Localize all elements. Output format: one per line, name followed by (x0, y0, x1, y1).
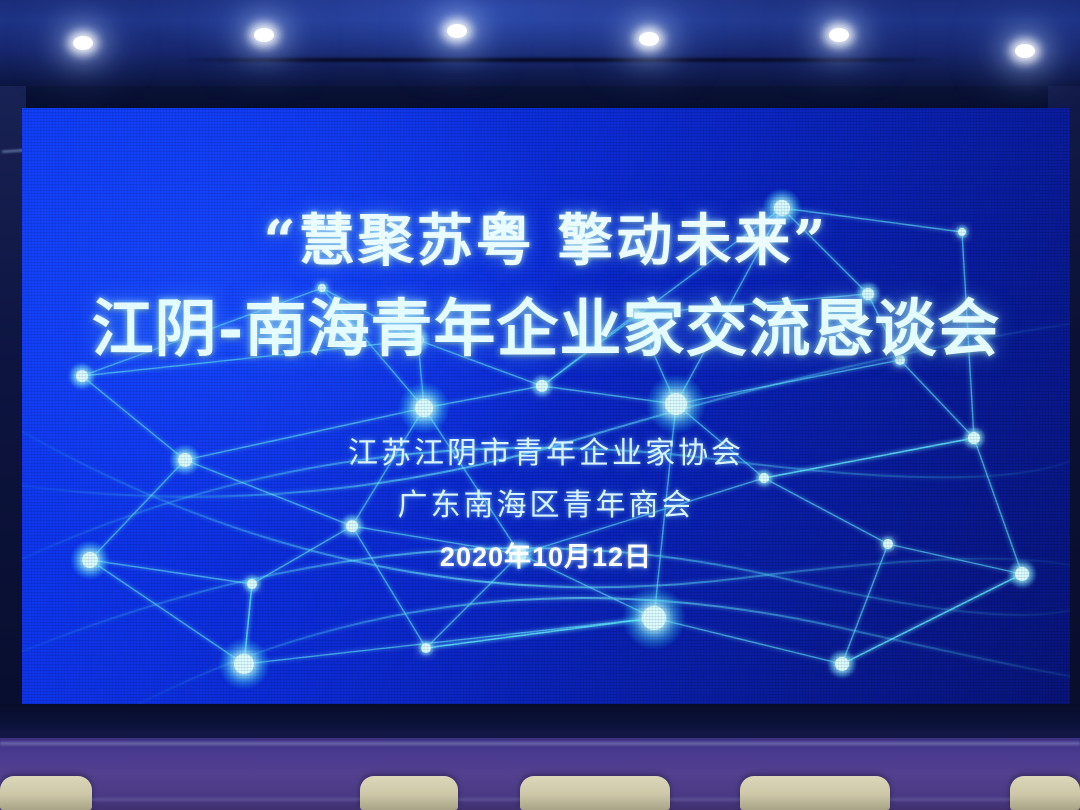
stage-front-band (0, 704, 1080, 740)
ceiling-light-4 (632, 26, 666, 52)
screen-text-block: “慧聚苏粤 擎动未来” 江阴-南海青年企业家交流恳谈会 江苏江阴市青年企业家协会… (22, 108, 1070, 704)
chair-5 (1010, 776, 1080, 810)
light-bulb-glow (829, 28, 849, 42)
light-bulb-glow (639, 32, 659, 46)
light-bulb-glow (447, 24, 467, 38)
event-date: 2020年10月12日 (22, 535, 1070, 574)
ceiling-light-2 (247, 22, 281, 48)
organizer-line-1: 江苏江阴市青年企业家协会 (22, 428, 1070, 472)
led-screen-surface: “慧聚苏粤 擎动未来” 江阴-南海青年企业家交流恳谈会 江苏江阴市青年企业家协会… (22, 108, 1070, 704)
chair-2 (360, 776, 458, 810)
organizer-line-2: 广东南海区青年商会 (22, 480, 1070, 524)
ceiling-light-wash (0, 0, 1080, 92)
light-bulb-glow (73, 36, 93, 50)
ceiling-seam (180, 58, 940, 62)
ceiling-light-3 (440, 18, 474, 44)
chair-4 (740, 776, 890, 810)
chair-1 (0, 776, 92, 810)
ceiling-light-1 (66, 30, 100, 56)
ceiling-light-6 (1008, 38, 1042, 64)
screen-title-line-1: “慧聚苏粤 擎动未来” (22, 196, 1070, 277)
floor-carpet (0, 738, 1080, 810)
light-bulb-glow (254, 28, 274, 42)
screen-title-line-2: 江阴-南海青年企业家交流恳谈会 (22, 278, 1070, 368)
chair-3 (520, 776, 670, 810)
led-screen-frame: “慧聚苏粤 擎动未来” 江阴-南海青年企业家交流恳谈会 江苏江阴市青年企业家协会… (22, 108, 1070, 704)
floor-highlight-1 (0, 742, 1080, 745)
ceiling-light-5 (822, 22, 856, 48)
conference-hall-photo: “慧聚苏粤 擎动未来” 江阴-南海青年企业家交流恳谈会 江苏江阴市青年企业家协会… (0, 0, 1080, 810)
light-bulb-glow (1015, 44, 1035, 58)
